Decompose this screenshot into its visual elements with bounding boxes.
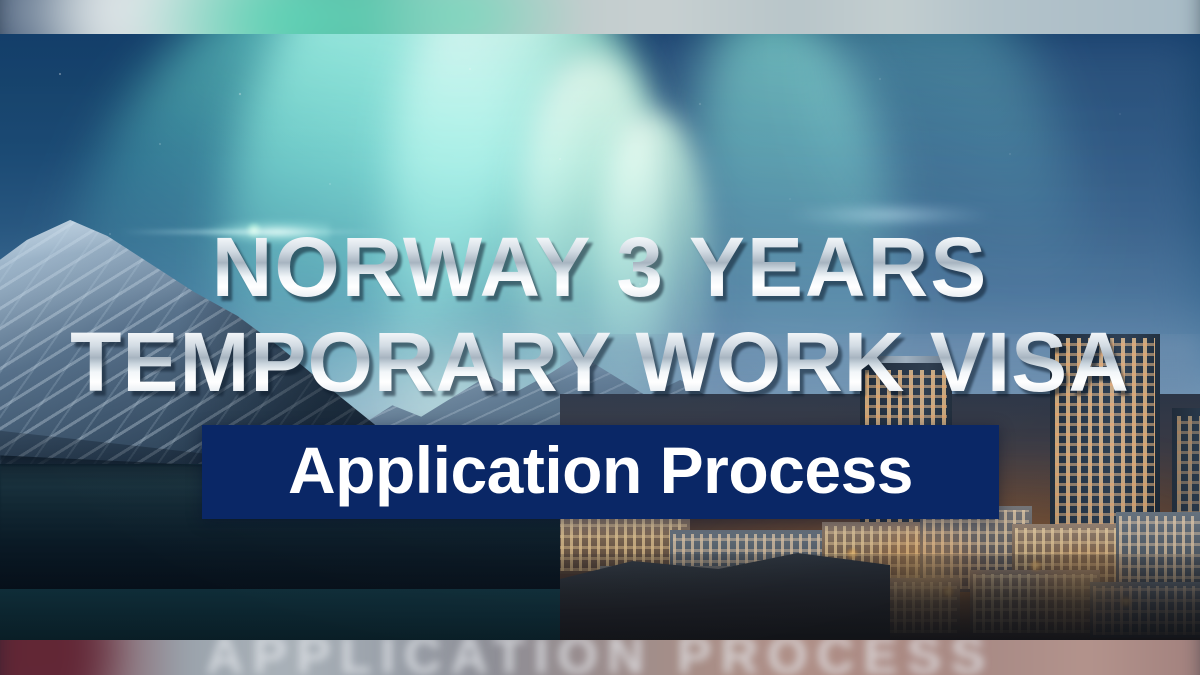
backdrop-strip-top bbox=[0, 0, 1200, 34]
lens-flare-dot bbox=[246, 222, 262, 238]
lens-flare bbox=[200, 219, 330, 245]
skyscraper-left-crown bbox=[862, 356, 950, 363]
city-foreground-shade bbox=[560, 554, 1200, 640]
banner-label: Application Process bbox=[288, 437, 913, 503]
application-process-banner: Application Process bbox=[202, 425, 999, 519]
hero-photo: NORWAY 3 YEARS NORWAY 3 YEARS TEMPORARY … bbox=[0, 34, 1200, 640]
backdrop-top-blur bbox=[0, 0, 1200, 34]
backdrop-bottom-ghost-text: APPLICATION PROCESS bbox=[0, 640, 1200, 673]
backdrop-strip-bottom: APPLICATION PROCESS bbox=[0, 640, 1200, 675]
thumbnail-graphic: NORWAY 3 YEARS NORWAY 3 YEARS TEMPORARY … bbox=[0, 0, 1200, 675]
lens-flare-secondary bbox=[790, 204, 990, 226]
